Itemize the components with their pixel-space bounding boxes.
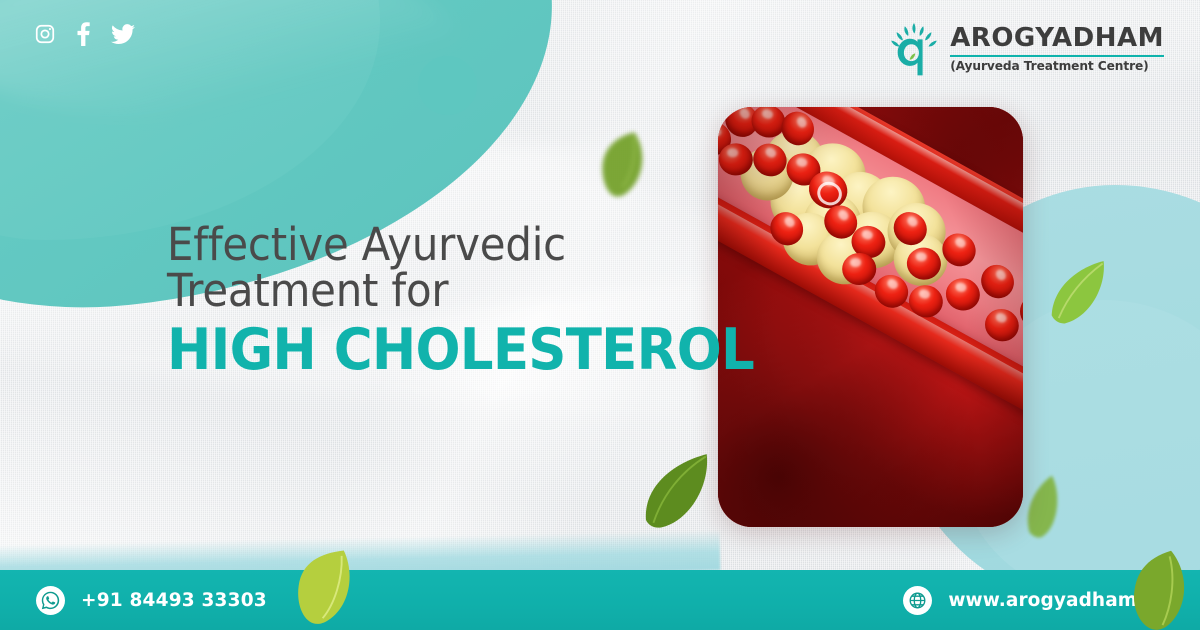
headline-line-2: Treatment for: [167, 268, 651, 314]
headline-accent: HIGH CHOLESTEROL: [167, 319, 651, 383]
brand-logo[interactable]: AROGYADHAM (Ayurveda Treatment Centre): [888, 20, 1164, 78]
social-link-twitter[interactable]: [111, 24, 135, 45]
brand-name: AROGYADHAM: [950, 25, 1164, 51]
footer-bar: +91 84493 33303 www.arogyadham.in: [0, 570, 1200, 630]
brand-tagline: (Ayurveda Treatment Centre): [950, 60, 1164, 72]
headline-line-1: Effective Ayurvedic: [167, 222, 651, 268]
teal-dot-circle: [418, 56, 477, 115]
social-link-facebook[interactable]: [77, 22, 90, 46]
phone-number: +91 84493 33303: [81, 590, 267, 611]
social-links: [34, 22, 135, 46]
social-link-instagram[interactable]: [34, 23, 56, 45]
globe-icon: [903, 586, 932, 615]
contact-phone[interactable]: +91 84493 33303: [36, 586, 267, 615]
twitter-icon: [111, 24, 135, 45]
promo-banner: AROGYADHAM (Ayurveda Treatment Centre) E…: [0, 0, 1200, 630]
arogyadham-leaf-a-icon: [888, 20, 940, 78]
instagram-icon: [34, 23, 56, 45]
headline-block: Effective Ayurvedic Treatment for HIGH C…: [167, 222, 687, 383]
facebook-icon: [77, 22, 90, 46]
brand-divider: [950, 55, 1164, 57]
whatsapp-icon: [36, 586, 65, 615]
brand-logo-text: AROGYADHAM (Ayurveda Treatment Centre): [950, 25, 1164, 72]
hero-image-cholesterol-artery: [718, 107, 1023, 527]
